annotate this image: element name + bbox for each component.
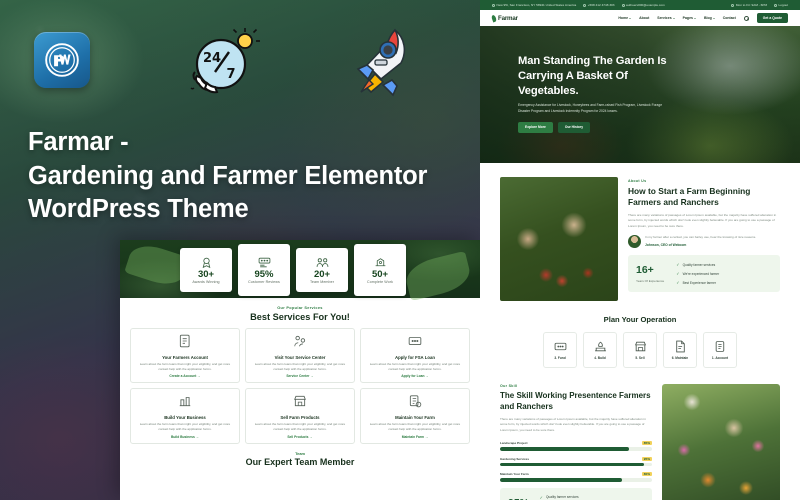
search-icon[interactable] [744, 16, 749, 21]
maintain-icon [408, 394, 422, 408]
plan-steps: 3. Fund 4. Build 5. Sell 6. Maintain 1. … [500, 332, 780, 368]
hero-section: Man Standing The Garden Is Carrying A Ba… [480, 26, 800, 163]
stat-label: Customer Reviews [248, 280, 280, 284]
hero-heading: Man Standing The Garden Is Carrying A Ba… [518, 54, 690, 98]
nav-item-contact[interactable]: Contact [723, 16, 736, 20]
location-pin-icon [492, 4, 495, 7]
stat-card: 95% Customer Reviews [238, 244, 290, 296]
stat-card: 30+ Awards Winning [180, 248, 232, 292]
account-icon [713, 340, 728, 353]
progress-track [500, 478, 652, 482]
address-item: New 95t, San Francisco, NY 58941 United … [492, 3, 576, 7]
logout-text: Logout [779, 3, 788, 7]
check-icon: ✓ [676, 280, 679, 285]
service-title: Sell Farm Products [250, 415, 350, 420]
about-eyebrow: About Us [628, 179, 780, 183]
service-card[interactable]: Apply for FSA Loan Learn about the farm … [360, 328, 470, 383]
progress-row: Landscape Project 85% [500, 441, 652, 451]
stat-card: 20+ Team Member [296, 248, 348, 292]
page-title: Farmar -Gardening and Farmer ElementorWo… [28, 126, 448, 227]
nav-item-pages[interactable]: Pages [683, 16, 696, 20]
service-title: Apply for FSA Loan [365, 355, 465, 360]
service-desc: Learn about the farm loans that might yo… [250, 362, 350, 371]
service-center-icon [293, 334, 307, 348]
chevron-down-icon [673, 18, 675, 19]
avatar [628, 235, 641, 248]
hours-text: Mon to Fri: 9AM - 6PM [736, 3, 767, 7]
checklist-item: ✓Best Experience farmer [676, 280, 719, 285]
sell-icon [633, 340, 648, 353]
svg-text:7: 7 [226, 67, 235, 82]
experience-value: 16+ [636, 265, 664, 276]
progress-fill [500, 463, 644, 467]
left-site-preview: 30+ Awards Winning 95% Customer Reviews [120, 240, 480, 500]
skill-eyebrow: Our Skill [500, 384, 652, 388]
svg-text:24: 24 [203, 51, 221, 66]
email-item[interactable]: authoers000@example.com [622, 3, 665, 7]
plan-step-account[interactable]: 1. Account [703, 332, 737, 368]
service-link[interactable]: Build Business → [135, 435, 235, 439]
stat-label: Awards Winning [192, 280, 219, 284]
about-checklist: ✓Quality farmer services ✓We're experien… [676, 262, 719, 285]
address-text: New 95t, San Francisco, NY 58941 United … [497, 3, 577, 7]
account-icon [178, 334, 192, 348]
service-link[interactable]: Create a Account → [135, 374, 235, 378]
nav-menu: Home About Services Pages Blog Contact G… [618, 13, 788, 23]
stat-label: Complete Work [367, 280, 393, 284]
service-desc: Learn about the farm loans that might yo… [250, 422, 350, 431]
service-desc: Learn about the farm loans that might yo… [365, 362, 465, 371]
progress-fill [500, 478, 622, 482]
services-grid: Your Farmers Account Learn about the far… [130, 328, 470, 444]
progress-row: Maintain Your Farm 80% [500, 472, 652, 482]
247-support-badge: 24 7 [185, 22, 263, 100]
screenshot-stage: 24 7 Farmar -Gardening and Farmer Elemen… [0, 0, 800, 500]
service-link[interactable]: Sell Products → [250, 435, 350, 439]
stat-label: Team Member [310, 280, 334, 284]
stat-value: 95% [254, 270, 273, 280]
plan-step-label: 6. Maintain [672, 356, 688, 360]
service-link[interactable]: Maintain Farm → [365, 435, 465, 439]
leaf-icon [491, 14, 497, 22]
nav-item-blog[interactable]: Blog [704, 16, 715, 20]
skill-stat-box: 95% All Presentence ✓Quality farmer serv… [500, 488, 652, 500]
check-icon: ✓ [540, 495, 543, 500]
team-heading: Our Expert Team Member [130, 457, 470, 467]
plan-heading: Plan Your Operation [500, 315, 780, 324]
progress-label: Gardening Services [500, 457, 529, 461]
testimonial: In my farmer after a certiad, you can ba… [628, 235, 780, 248]
testimonial-author: Johnson, CEO of Webcom [645, 243, 756, 247]
service-card[interactable]: Your Farmers Account Learn about the far… [130, 328, 240, 383]
service-link[interactable]: Apply for Loan → [365, 374, 465, 378]
email-text: authoers000@example.com [626, 3, 665, 7]
plan-section: Plan Your Operation 3. Fund 4. Build 5. … [480, 301, 800, 368]
stat-value: 30+ [198, 270, 214, 280]
chevron-down-icon [629, 18, 631, 19]
main-navbar: Farmar Home About Services Pages Blog Co… [480, 10, 800, 26]
progress-fill [500, 447, 629, 451]
utility-topbar: New 95t, San Francisco, NY 58941 United … [480, 0, 800, 10]
services-heading: Best Services For You! [130, 312, 470, 322]
nav-item-services[interactable]: Services [657, 16, 674, 20]
nav-item-about[interactable]: About [639, 16, 649, 20]
wordpress-icon [43, 41, 81, 79]
skill-checklist: ✓Quality farmer services ✓We're experien… [540, 495, 583, 500]
review-icon [257, 256, 272, 269]
get-a-quote-button[interactable]: Get a Quote [757, 13, 788, 23]
work-icon [373, 256, 388, 269]
loan-icon [408, 334, 422, 348]
plan-step-fund[interactable]: 3. Fund [543, 332, 577, 368]
about-stat-box: 16+ Years Of Experience ✓Quality farmer … [628, 255, 780, 292]
build-icon [593, 340, 608, 353]
service-desc: Learn about the farm loans that might yo… [135, 362, 235, 371]
products-icon [293, 394, 307, 408]
service-title: Build Your Business [135, 415, 235, 420]
chevron-down-icon [694, 18, 696, 19]
skill-image [662, 384, 780, 500]
envelope-icon [622, 4, 625, 7]
about-image [500, 177, 618, 301]
plan-step-label: 5. Sell [635, 356, 644, 360]
about-heading: How to Start a Farm Beginning Farmers an… [628, 186, 780, 209]
progress-value: 85% [642, 441, 652, 445]
rocket-badge [345, 22, 423, 100]
progress-value: 80% [642, 472, 652, 476]
hours-item: Mon to Fri: 9AM - 6PM [731, 3, 767, 7]
maintain-icon [673, 340, 688, 353]
stats-row: 30+ Awards Winning 95% Customer Reviews [180, 248, 406, 296]
wordpress-badge [34, 32, 90, 88]
service-title: Visit Your Service Center [250, 355, 350, 360]
clock-icon [731, 4, 734, 7]
user-icon [774, 4, 777, 7]
skill-heading: The Skill Working Presentence Farmers an… [500, 391, 652, 413]
business-icon [178, 394, 192, 408]
team-section: Team Our Expert Team Member [130, 451, 470, 467]
checklist-item: ✓We're experienced farmer [676, 271, 719, 276]
nav-item-home[interactable]: Home [618, 16, 631, 20]
phone-text: +568 412 4748 303 [588, 3, 615, 7]
right-site-preview: New 95t, San Francisco, NY 58941 United … [480, 0, 800, 500]
progress-label: Maintain Your Farm [500, 472, 529, 476]
check-icon: ✓ [676, 262, 679, 267]
service-card[interactable]: Sell Farm Products Learn about the farm … [245, 388, 355, 443]
progress-value: 95% [642, 457, 652, 461]
logo-text: Farmar [498, 15, 518, 22]
phone-item[interactable]: +568 412 4748 303 [583, 3, 614, 7]
testimonial-text: In my farmer after a certiad, you can ba… [645, 235, 756, 240]
service-card[interactable]: Build Your Business Learn about the farm… [130, 388, 240, 443]
check-icon: ✓ [676, 271, 679, 276]
team-eyebrow: Team [130, 451, 470, 456]
award-icon [199, 256, 214, 269]
service-link[interactable]: Service Center → [250, 374, 350, 378]
plan-step-maintain[interactable]: 6. Maintain [663, 332, 697, 368]
about-body: There are many variations of passages of… [628, 213, 780, 230]
stat-card: 50+ Complete Work [354, 244, 406, 296]
progress-track [500, 463, 652, 467]
site-logo[interactable]: Farmar [492, 15, 518, 22]
plan-step-label: 3. Fund [554, 356, 565, 360]
chevron-down-icon [713, 18, 715, 19]
hero-body: Emergency Assistance for Livestock, Hone… [518, 103, 668, 115]
checklist-item: ✓Quality farmer services [676, 262, 719, 267]
progress-track [500, 447, 652, 451]
service-title: Your Farmers Account [135, 355, 235, 360]
left-preview-body: Our Popular Services Best Services For Y… [120, 298, 480, 467]
fund-icon [553, 340, 568, 353]
plan-step-label: 4. Build [594, 356, 606, 360]
stat-value: 50+ [372, 270, 388, 280]
service-desc: Learn about the farm loans that might yo… [135, 422, 235, 431]
plan-step-build[interactable]: 4. Build [583, 332, 617, 368]
skill-body: There are many variations of passages of… [500, 417, 652, 433]
service-desc: Learn about the farm loans that might yo… [365, 422, 465, 431]
plan-step-sell[interactable]: 5. Sell [623, 332, 657, 368]
explore-more-button[interactable]: Explore More [518, 122, 553, 133]
services-eyebrow: Our Popular Services [130, 305, 470, 310]
service-card[interactable]: Maintain Your Farm Learn about the farm … [360, 388, 470, 443]
checklist-item: ✓Quality farmer services [540, 495, 583, 500]
experience-label: Years Of Experience [636, 279, 664, 283]
progress-row: Gardening Services 95% [500, 457, 652, 467]
our-history-button[interactable]: Our History [558, 122, 590, 133]
team-icon [315, 256, 330, 269]
phone-icon [583, 4, 586, 7]
skill-section: Our Skill The Skill Working Presentence … [480, 368, 800, 500]
service-card[interactable]: Visit Your Service Center Learn about th… [245, 328, 355, 383]
logout-item[interactable]: Logout [774, 3, 788, 7]
progress-label: Landscape Project [500, 441, 528, 445]
service-title: Maintain Your Farm [365, 415, 465, 420]
about-section: About Us How to Start a Farm Beginning F… [480, 163, 800, 301]
skill-progress-list: Landscape Project 85% Gardening Services… [500, 441, 652, 482]
plan-step-label: 1. Account [712, 356, 728, 360]
stat-value: 20+ [314, 270, 330, 280]
